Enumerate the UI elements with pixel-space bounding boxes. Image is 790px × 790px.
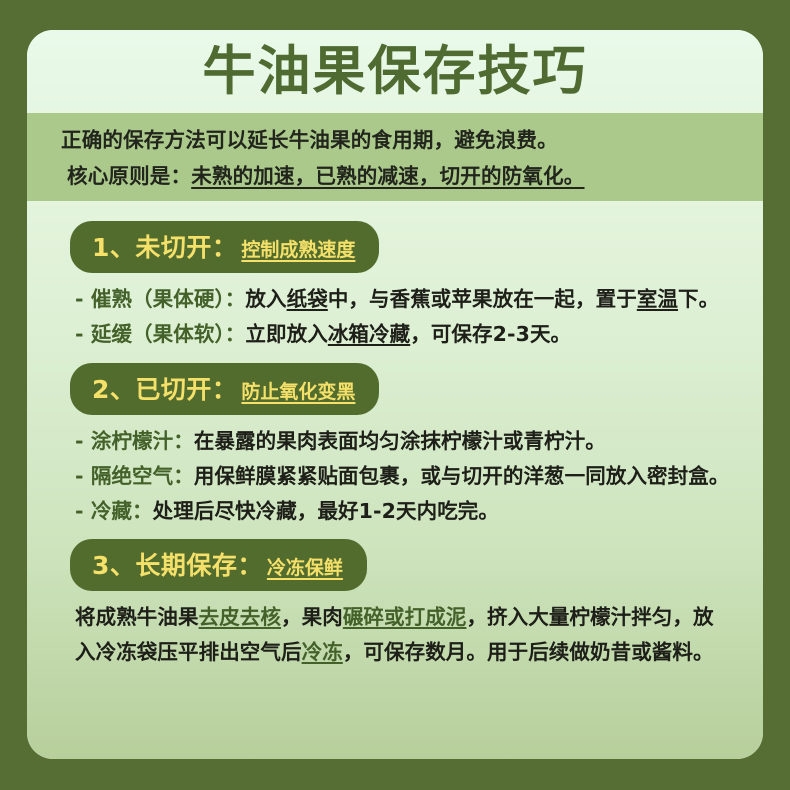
text-run: ，果肉 (281, 605, 343, 629)
intro-line-1: 正确的保存方法可以延长牛油果的食用期，避免浪费。 (61, 122, 729, 158)
text-run: 冷冻 (302, 640, 343, 664)
section-1-body: - 催熟（果体硬）：放入纸袋中，与香蕉或苹果放在一起，置于室温下。 - 延缓（果… (27, 273, 763, 352)
section-3-body: 将成熟牛油果去皮去核，果肉碾碎或打成泥，挤入大量柠檬汁拌匀，放入冷冻袋压平排出空… (27, 591, 763, 670)
section-3-badge-sub: 冷冻保鲜 (267, 553, 343, 580)
section-2-badge-sub: 防止氧化变黑 (241, 377, 355, 404)
text-run: - 隔绝空气： (75, 464, 194, 488)
text-run: 中，与香蕉或苹果放在一起，置于 (328, 287, 637, 311)
section-1: 1、未切开： 控制成熟速度 - 催熟（果体硬）：放入纸袋中，与香蕉或苹果放在一起… (27, 221, 763, 352)
section-2-badge[interactable]: 2、已切开： 防止氧化变黑 (70, 363, 379, 415)
section-2-paragraph-2: - 隔绝空气：用保鲜膜紧紧贴面包裹，或与切开的洋葱一同放入密封盒。 (75, 459, 733, 494)
section-3-badge[interactable]: 3、长期保存： 冷冻保鲜 (70, 539, 367, 591)
text-run: - 催熟（果体硬）： (75, 287, 245, 311)
intro-band: 正确的保存方法可以延长牛油果的食用期，避免浪费。 核心原则是：未熟的加速，已熟的… (27, 113, 763, 201)
section-2-badge-main: 2、已切开： (92, 370, 237, 406)
text-run: ，可保存2-3天。 (410, 322, 571, 346)
body-area: 1、未切开： 控制成熟速度 - 催熟（果体硬）：放入纸袋中，与香蕉或苹果放在一起… (27, 201, 763, 759)
section-2: 2、已切开： 防止氧化变黑 - 涂柠檬汁：在暴露的果肉表面均匀涂抹柠檬汁或青柠汁… (27, 363, 763, 529)
text-run: - 冷藏： (75, 499, 153, 523)
text-run: 纸袋 (287, 287, 328, 311)
section-3: 3、长期保存： 冷冻保鲜 将成熟牛油果去皮去核，果肉碾碎或打成泥，挤入大量柠檬汁… (27, 539, 763, 670)
text-run: 放入 (245, 287, 286, 311)
text-run: 下。 (678, 287, 719, 311)
text-run: 室温 (637, 287, 678, 311)
text-run: 去皮去核 (199, 605, 281, 629)
section-2-paragraph-3: - 冷藏：处理后尽快冷藏，最好1-2天内吃完。 (75, 494, 733, 529)
text-run: 碾碎或打成泥 (343, 605, 467, 629)
section-1-badge-sub: 控制成熟速度 (241, 235, 355, 262)
section-2-paragraph-1: - 涂柠檬汁：在暴露的果肉表面均匀涂抹柠檬汁或青柠汁。 (75, 424, 733, 459)
intro-line-2-principle: 未熟的加速，已熟的减速，切开的防氧化。 (191, 164, 584, 188)
section-1-badge[interactable]: 1、未切开： 控制成熟速度 (70, 221, 379, 273)
page-title: 牛油果保存技巧 (203, 45, 588, 98)
text-run: - 涂柠檬汁： (75, 429, 194, 453)
section-1-badge-main: 1、未切开： (92, 228, 237, 264)
section-2-body: - 涂柠檬汁：在暴露的果肉表面均匀涂抹柠檬汁或青柠汁。 - 隔绝空气：用保鲜膜紧… (27, 415, 763, 529)
intro-line-2: 核心原则是：未熟的加速，已熟的减速，切开的防氧化。 (61, 158, 729, 194)
text-run: 处理后尽快冷藏，最好1-2天内吃完。 (153, 499, 499, 523)
text-run: 将成熟牛油果 (75, 605, 199, 629)
section-1-paragraph-2: - 延缓（果体软）：立即放入冰箱冷藏，可保存2-3天。 (75, 317, 733, 352)
text-run: - 延缓（果体软）： (75, 322, 245, 346)
section-3-paragraph-1: 将成熟牛油果去皮去核，果肉碾碎或打成泥，挤入大量柠檬汁拌匀，放入冷冻袋压平排出空… (75, 600, 733, 670)
text-run: 在暴露的果肉表面均匀涂抹柠檬汁或青柠汁。 (194, 429, 606, 453)
infographic-card: 牛油果保存技巧 正确的保存方法可以延长牛油果的食用期，避免浪费。 核心原则是：未… (27, 30, 763, 759)
title-band: 牛油果保存技巧 (27, 30, 763, 113)
intro-line-2-prefix: 核心原则是： (67, 164, 191, 188)
text-run: ，可保存数月。用于后续做奶昔或酱料。 (343, 640, 714, 664)
text-run: 用保鲜膜紧紧贴面包裹，或与切开的洋葱一同放入密封盒。 (194, 464, 730, 488)
text-run: 冰箱冷藏 (328, 322, 410, 346)
section-1-paragraph-1: - 催熟（果体硬）：放入纸袋中，与香蕉或苹果放在一起，置于室温下。 (75, 282, 733, 317)
section-3-badge-main: 3、长期保存： (92, 546, 263, 582)
text-run: 立即放入 (245, 322, 327, 346)
